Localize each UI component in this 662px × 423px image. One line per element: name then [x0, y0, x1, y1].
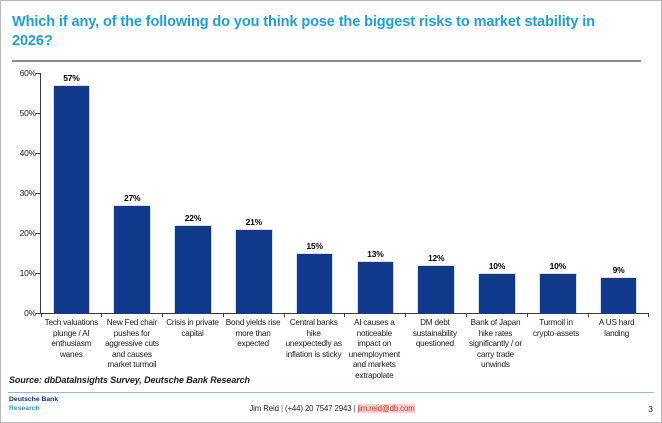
category-label: AI causes a noticeable impact on unemplo… — [344, 318, 405, 381]
bar-value-label: 10% — [550, 261, 566, 271]
bar[interactable] — [357, 261, 395, 313]
bar-value-label: 27% — [124, 193, 140, 203]
bar-slot[interactable]: 13% — [345, 73, 406, 313]
y-axis-tick-mark — [36, 273, 41, 274]
contact-name: Jim Reid — [249, 404, 279, 413]
category-label: Bond yields rise more than expected — [223, 318, 284, 350]
bar-value-label: 9% — [613, 265, 625, 275]
y-axis-tick-label: 50% — [20, 108, 36, 118]
bar-slot[interactable]: 9% — [588, 73, 649, 313]
contact-line: Jim Reid | (+44) 20 7547 2943 | jim.reid… — [1, 404, 662, 413]
x-axis-tick-mark — [466, 313, 467, 317]
bar-slot[interactable]: 10% — [467, 73, 528, 313]
x-axis-tick-cell — [284, 313, 345, 317]
bar-slot[interactable]: 27% — [102, 73, 163, 313]
bar[interactable] — [478, 273, 516, 313]
category-label: Bank of Japan hike rates significantly /… — [465, 318, 526, 371]
x-axis-tick-cell — [345, 313, 406, 317]
x-axis-tick-mark — [405, 313, 406, 317]
brand-name: Deutsche Bank — [9, 395, 58, 404]
x-axis-tick-cell — [527, 313, 588, 317]
x-axis-ticks — [41, 313, 649, 317]
category-label: New Fed chair pushes for aggressive cuts… — [102, 318, 163, 371]
bar-value-label: 15% — [306, 241, 322, 251]
bar[interactable] — [53, 85, 91, 313]
bar[interactable] — [235, 229, 273, 313]
bar-slot[interactable]: 22% — [163, 73, 224, 313]
category-label: A US hard landing — [586, 318, 647, 339]
x-axis-tick-mark — [284, 313, 285, 317]
y-axis-tick-mark — [36, 233, 41, 234]
x-axis-tick-cell — [406, 313, 467, 317]
bar[interactable] — [174, 225, 212, 313]
bars-container: 57%27%22%21%15%13%12%10%10%9% — [41, 73, 649, 313]
page-number: 3 — [648, 404, 653, 414]
bar-value-label: 10% — [489, 261, 505, 271]
contact-separator-2: | — [351, 404, 357, 413]
y-axis-tick-label: 60% — [20, 68, 36, 78]
bar-slot[interactable]: 15% — [284, 73, 345, 313]
bar[interactable] — [113, 205, 151, 313]
bar[interactable] — [417, 265, 455, 313]
slide-footer: Deutsche Bank Research Jim Reid | (+44) … — [1, 394, 662, 423]
y-axis-tick-label: 10% — [20, 268, 36, 278]
bar-value-label: 13% — [367, 249, 383, 259]
x-axis-tick-cell — [223, 313, 284, 317]
bar[interactable] — [600, 277, 638, 313]
contact-email-link[interactable]: jim.reid@db.com — [358, 404, 415, 413]
y-axis-tick-label: 40% — [20, 148, 36, 158]
bar-slot[interactable]: 21% — [223, 73, 284, 313]
x-axis-tick-mark — [648, 313, 649, 317]
bar-slot[interactable]: 57% — [41, 73, 102, 313]
bar-value-label: 22% — [185, 213, 201, 223]
bar-slot[interactable]: 12% — [406, 73, 467, 313]
page-title: Which if any, of the following do you th… — [12, 13, 637, 51]
x-axis-category-labels: Tech valuations plunge / AI enthusiasm w… — [41, 318, 647, 381]
bar-value-label: 57% — [63, 73, 79, 83]
y-axis-labels: 60%50%40%30%20%10%0% — [7, 67, 39, 313]
y-axis-tick-mark — [36, 73, 41, 74]
bar-value-label: 12% — [428, 253, 444, 263]
bar[interactable] — [539, 273, 577, 313]
category-label: Tech valuations plunge / AI enthusiasm w… — [41, 318, 102, 360]
y-axis-tick-mark — [36, 153, 41, 154]
contact-phone: (+44) 20 7547 2943 — [285, 404, 351, 413]
x-axis-tick-cell — [102, 313, 163, 317]
y-axis-tick-mark — [36, 313, 41, 314]
title-divider — [12, 60, 641, 62]
x-axis-tick-cell — [588, 313, 649, 317]
footer-divider — [8, 392, 654, 393]
slide-canvas: Which if any, of the following do you th… — [0, 0, 662, 423]
x-axis-tick-cell — [467, 313, 528, 317]
x-axis-tick-mark — [344, 313, 345, 317]
bar-slot[interactable]: 10% — [527, 73, 588, 313]
x-axis-tick-cell — [41, 313, 102, 317]
x-axis-tick-mark — [527, 313, 528, 317]
y-axis-tick-label: 0% — [24, 308, 36, 318]
x-axis-tick-cell — [163, 313, 224, 317]
y-axis-tick-label: 20% — [20, 228, 36, 238]
bar[interactable] — [296, 253, 334, 313]
x-axis-tick-mark — [223, 313, 224, 317]
chart-plot-area: 60%50%40%30%20%10%0% 57%27%22%21%15%13%1… — [7, 67, 657, 317]
category-label: Turmoil in crypto-assets — [526, 318, 587, 339]
category-label: Crisis in private capital — [162, 318, 223, 339]
source-note: Source: dbDataInsights Survey, Deutsche … — [9, 375, 250, 385]
title-block: Which if any, of the following do you th… — [12, 13, 637, 51]
x-axis-tick-mark — [101, 313, 102, 317]
y-axis-tick-mark — [36, 113, 41, 114]
x-axis-tick-mark — [162, 313, 163, 317]
category-label: DM debt sustainability questioned — [405, 318, 466, 350]
bar-value-label: 21% — [246, 217, 262, 227]
x-axis-tick-mark — [588, 313, 589, 317]
y-axis-tick-label: 30% — [20, 188, 36, 198]
y-axis-tick-mark — [36, 193, 41, 194]
category-label: Central banks hike unexpectedly as infla… — [283, 318, 344, 360]
